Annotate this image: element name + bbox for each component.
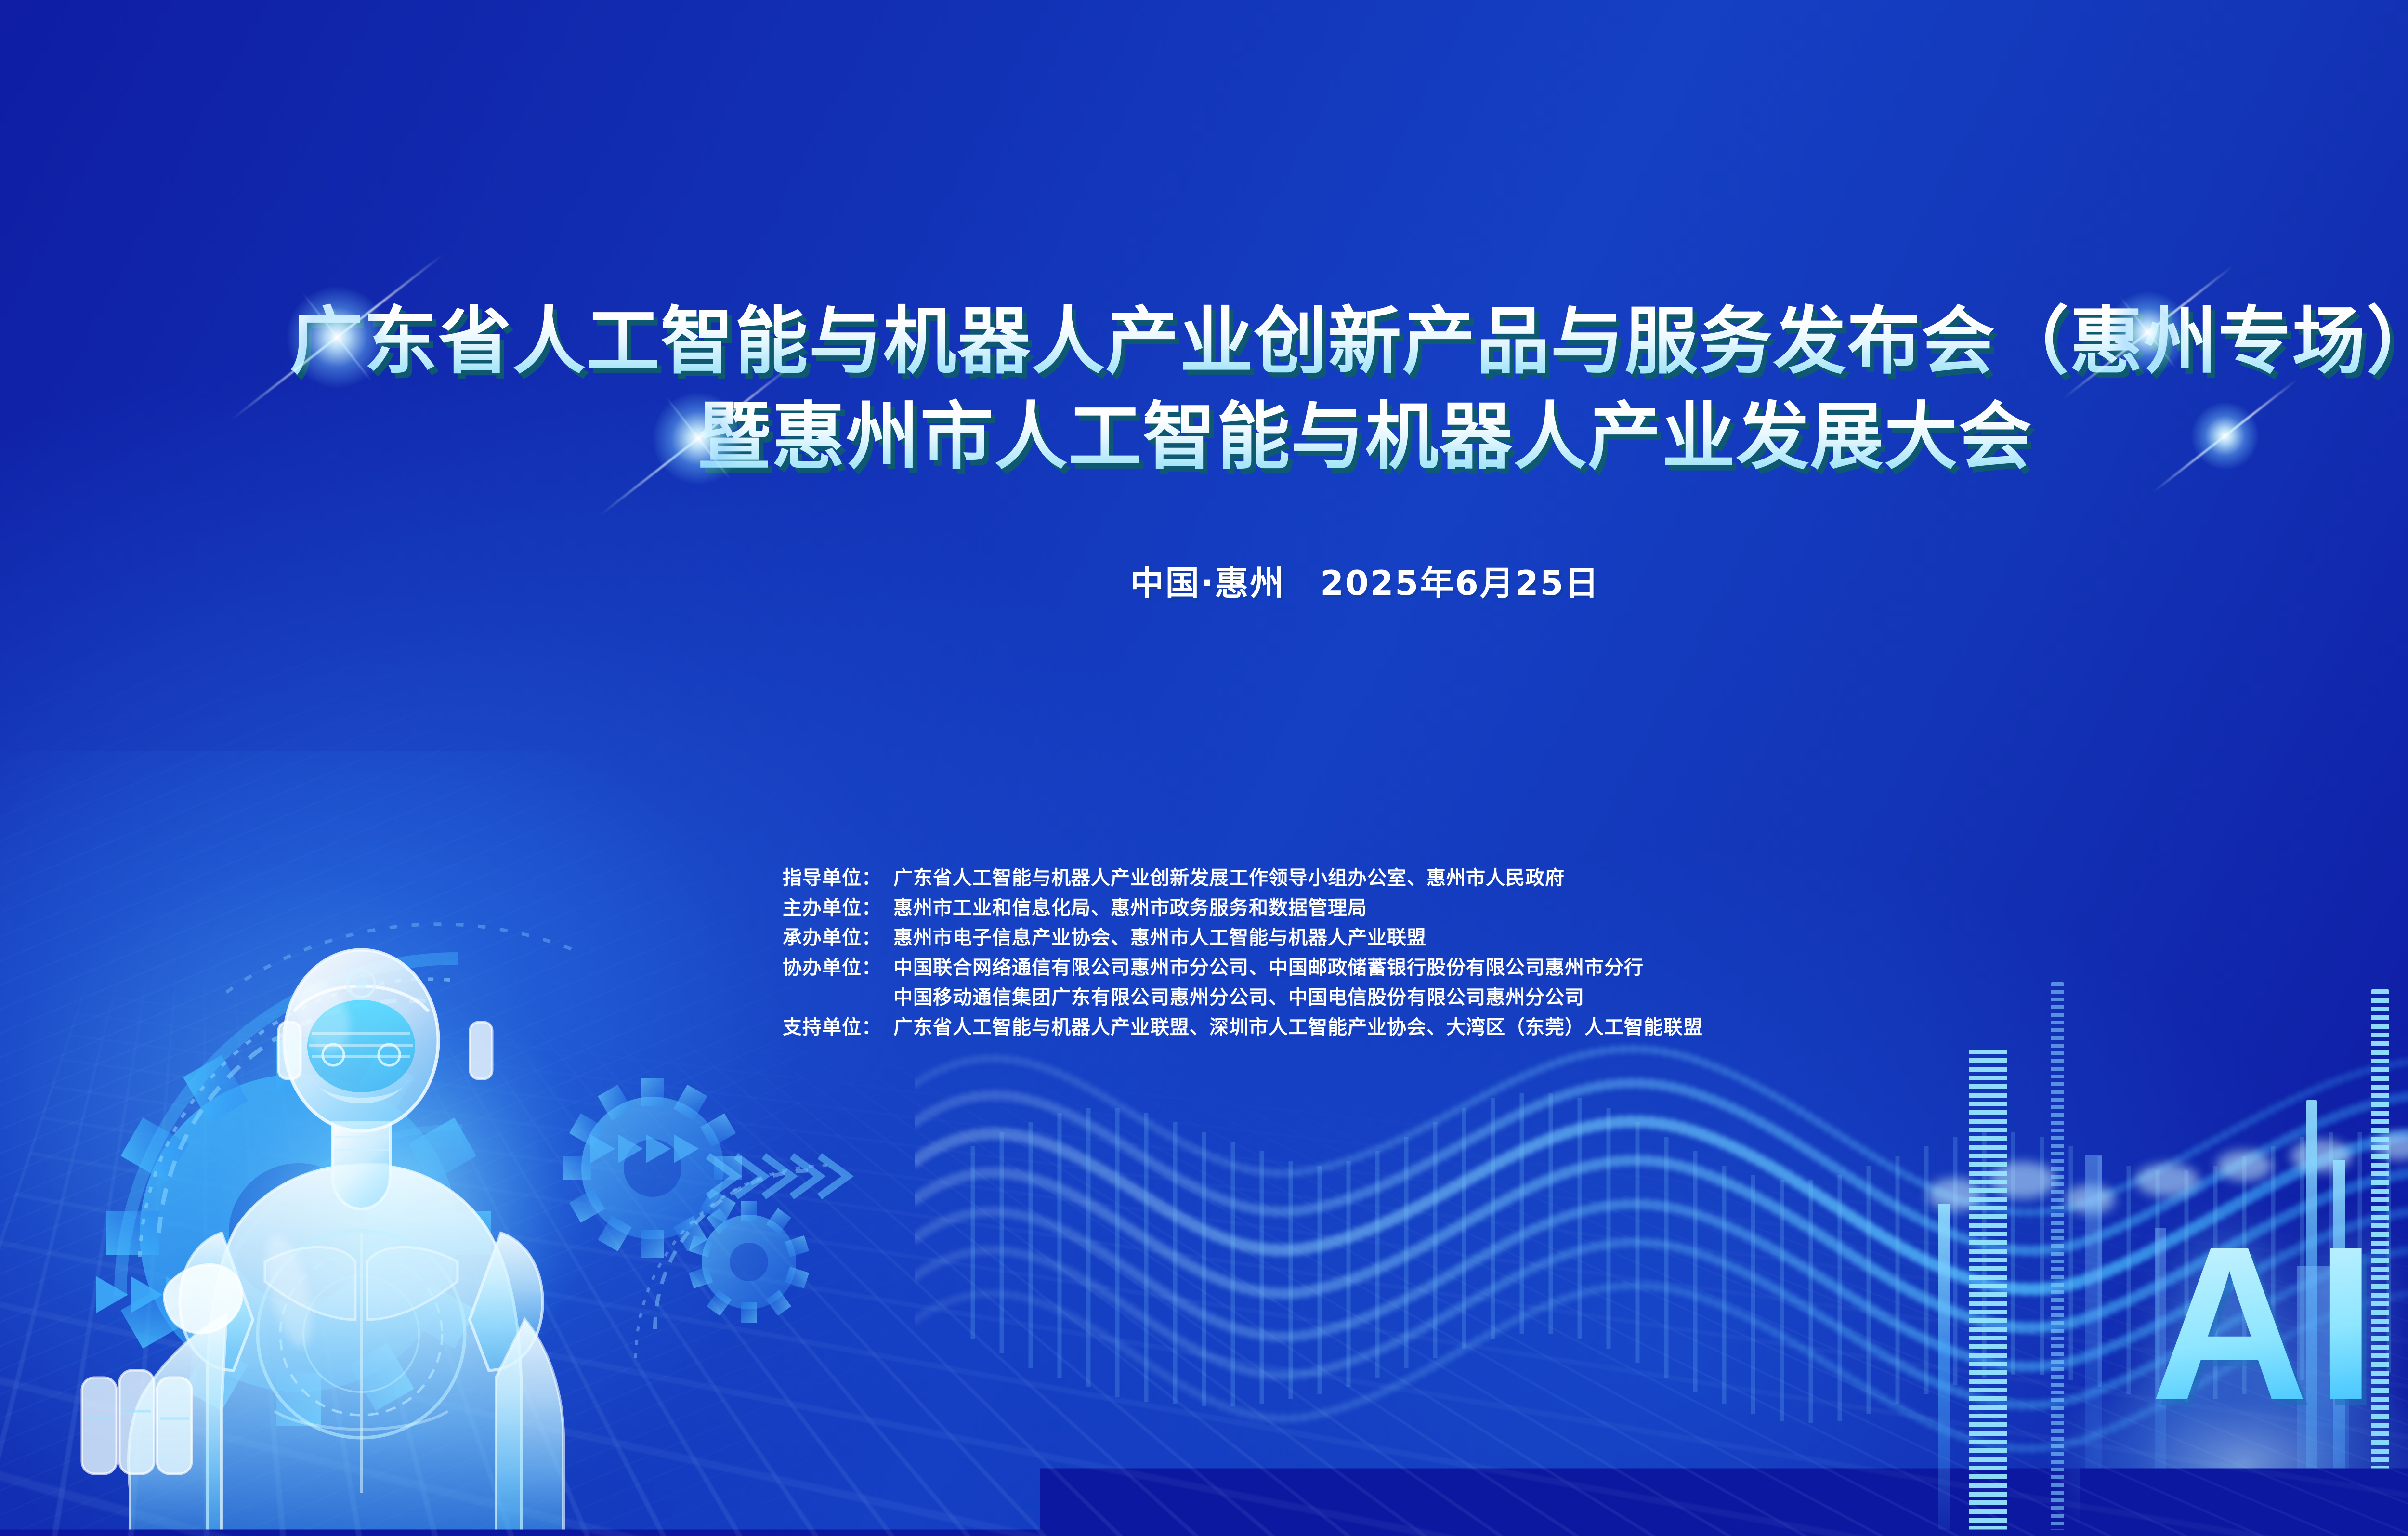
- organizer-row: 主办单位： 惠州市工业和信息化局、惠州市政务服务和数据管理局: [783, 892, 1703, 922]
- conference-backdrop: AI: [0, 0, 2408, 1536]
- organizer-row: 承办单位： 惠州市电子信息产业协会、惠州市人工智能与机器人产业联盟: [783, 922, 1703, 952]
- headline-line-2: 暨惠州市人工智能与机器人产业发展大会: [0, 389, 2408, 485]
- organizer-value: 中国联合网络通信有限公司惠州市分公司、中国邮政储蓄银行股份有限公司惠州市分行: [893, 952, 1644, 980]
- organizer-row: 指导单位： 广东省人工智能与机器人产业创新发展工作领导小组办公室、惠州市人民政府: [783, 862, 1703, 892]
- organizer-row: 支持单位： 广东省人工智能与机器人产业联盟、深圳市人工智能产业协会、大湾区（东莞…: [783, 1011, 1703, 1041]
- ai-logo-text: AI: [2150, 1214, 2383, 1433]
- organizer-value: 惠州市电子信息产业协会、惠州市人工智能与机器人产业联盟: [893, 922, 1426, 950]
- page-title: 广东省人工智能与机器人产业创新产品与服务发布会（惠州专场） 暨惠州市人工智能与机…: [0, 294, 2408, 484]
- organizer-label: 指导单位：: [783, 862, 893, 890]
- organizer-label: 支持单位：: [783, 1011, 893, 1039]
- organizer-value: 广东省人工智能与机器人产业联盟、深圳市人工智能产业协会、大湾区（东莞）人工智能联…: [893, 1011, 1703, 1039]
- organizer-label: 协办单位：: [783, 952, 893, 980]
- headline-line-1: 广东省人工智能与机器人产业创新产品与服务发布会（惠州专场）: [0, 294, 2408, 389]
- organizer-value: 广东省人工智能与机器人产业创新发展工作领导小组办公室、惠州市人民政府: [893, 862, 1565, 890]
- organizer-row: 协办单位： 中国联合网络通信有限公司惠州市分公司、中国邮政储蓄银行股份有限公司惠…: [783, 952, 1703, 982]
- organizer-value: 中国移动通信集团广东有限公司惠州分公司、中国电信股份有限公司惠州分公司: [893, 982, 1584, 1010]
- organizer-list: 指导单位： 广东省人工智能与机器人产业创新发展工作领导小组办公室、惠州市人民政府…: [783, 862, 1703, 1041]
- translucent-humanoid-robot: [63, 896, 708, 1536]
- organizer-label: 主办单位：: [783, 892, 893, 920]
- organizer-label: 承办单位：: [783, 922, 893, 950]
- organizer-value: 惠州市工业和信息化局、惠州市政务服务和数据管理局: [893, 892, 1367, 920]
- event-location-date: 中国·惠州 2025年6月25日: [0, 556, 2408, 605]
- organizer-row: 中国移动通信集团广东有限公司惠州分公司、中国电信股份有限公司惠州分公司: [783, 982, 1703, 1011]
